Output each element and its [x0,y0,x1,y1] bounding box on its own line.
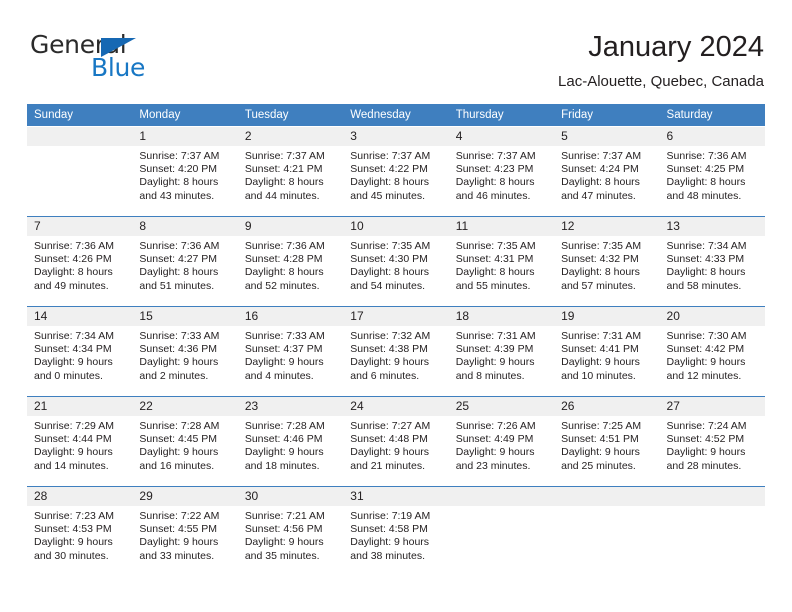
calendar-day-cell[interactable]: 14Sunrise: 7:34 AMSunset: 4:34 PMDayligh… [27,307,132,397]
sunrise-text: Sunrise: 7:23 AM [34,510,128,523]
day-details: Sunrise: 7:37 AMSunset: 4:20 PMDaylight:… [132,146,237,203]
calendar-day-cell[interactable]: 1Sunrise: 7:37 AMSunset: 4:20 PMDaylight… [132,127,237,217]
day-number: 14 [27,307,132,326]
day-box: 23Sunrise: 7:28 AMSunset: 4:46 PMDayligh… [238,397,343,486]
daylight-text: Daylight: 9 hours [34,356,128,369]
day-number: 10 [343,217,448,236]
daylight-text: and 38 minutes. [350,550,444,563]
day-box: 17Sunrise: 7:32 AMSunset: 4:38 PMDayligh… [343,307,448,396]
sunrise-text: Sunrise: 7:37 AM [245,150,339,163]
sunset-text: Sunset: 4:25 PM [667,163,761,176]
day-details: Sunrise: 7:19 AMSunset: 4:58 PMDaylight:… [343,506,448,563]
daylight-text: Daylight: 8 hours [350,176,444,189]
daylight-text: Daylight: 8 hours [561,176,655,189]
daylight-text: and 46 minutes. [456,190,550,203]
day-number: 7 [27,217,132,236]
day-details: Sunrise: 7:35 AMSunset: 4:30 PMDaylight:… [343,236,448,293]
calendar-day-cell[interactable]: 10Sunrise: 7:35 AMSunset: 4:30 PMDayligh… [343,217,448,307]
day-number: 28 [27,487,132,506]
day-details: Sunrise: 7:30 AMSunset: 4:42 PMDaylight:… [660,326,765,383]
day-number: 6 [660,127,765,146]
sunset-text: Sunset: 4:27 PM [139,253,233,266]
calendar-day-cell[interactable]: 28Sunrise: 7:23 AMSunset: 4:53 PMDayligh… [27,487,132,577]
calendar-day-cell[interactable]: 24Sunrise: 7:27 AMSunset: 4:48 PMDayligh… [343,397,448,487]
daylight-text: and 54 minutes. [350,280,444,293]
sunset-text: Sunset: 4:48 PM [350,433,444,446]
logo-word-blue: Blue [91,55,145,80]
day-number: 18 [449,307,554,326]
day-number [27,127,132,146]
daylight-text: Daylight: 8 hours [350,266,444,279]
sunrise-text: Sunrise: 7:32 AM [350,330,444,343]
sunset-text: Sunset: 4:46 PM [245,433,339,446]
sunset-text: Sunset: 4:28 PM [245,253,339,266]
sunrise-text: Sunrise: 7:36 AM [245,240,339,253]
sunset-text: Sunset: 4:39 PM [456,343,550,356]
sunset-text: Sunset: 4:22 PM [350,163,444,176]
daylight-text: Daylight: 8 hours [245,176,339,189]
daylight-text: and 51 minutes. [139,280,233,293]
daylight-text: and 43 minutes. [139,190,233,203]
day-number: 23 [238,397,343,416]
sunset-text: Sunset: 4:44 PM [34,433,128,446]
sunrise-text: Sunrise: 7:29 AM [34,420,128,433]
calendar-day-cell[interactable]: 6Sunrise: 7:36 AMSunset: 4:25 PMDaylight… [660,127,765,217]
day-box: 19Sunrise: 7:31 AMSunset: 4:41 PMDayligh… [554,307,659,396]
calendar-day-cell[interactable]: 3Sunrise: 7:37 AMSunset: 4:22 PMDaylight… [343,127,448,217]
daylight-text: and 14 minutes. [34,460,128,473]
sunrise-text: Sunrise: 7:36 AM [34,240,128,253]
calendar-cell-empty [449,487,554,577]
daylight-text: Daylight: 9 hours [350,536,444,549]
sunrise-text: Sunrise: 7:19 AM [350,510,444,523]
sunrise-text: Sunrise: 7:34 AM [667,240,761,253]
calendar-cell-empty [660,487,765,577]
daylight-text: and 2 minutes. [139,370,233,383]
sunrise-text: Sunrise: 7:28 AM [245,420,339,433]
daylight-text: and 23 minutes. [456,460,550,473]
calendar-day-cell[interactable]: 30Sunrise: 7:21 AMSunset: 4:56 PMDayligh… [238,487,343,577]
calendar-week-row: 1Sunrise: 7:37 AMSunset: 4:20 PMDaylight… [27,127,765,217]
calendar-day-cell[interactable]: 13Sunrise: 7:34 AMSunset: 4:33 PMDayligh… [660,217,765,307]
sunset-text: Sunset: 4:41 PM [561,343,655,356]
daylight-text: Daylight: 8 hours [667,266,761,279]
weekday-header-tuesday: Tuesday [238,104,343,127]
day-number: 31 [343,487,448,506]
daylight-text: and 28 minutes. [667,460,761,473]
day-box: 22Sunrise: 7:28 AMSunset: 4:45 PMDayligh… [132,397,237,486]
daylight-text: and 0 minutes. [34,370,128,383]
day-number: 19 [554,307,659,326]
sunrise-text: Sunrise: 7:31 AM [456,330,550,343]
day-box: 10Sunrise: 7:35 AMSunset: 4:30 PMDayligh… [343,217,448,306]
day-box: 12Sunrise: 7:35 AMSunset: 4:32 PMDayligh… [554,217,659,306]
daylight-text: and 48 minutes. [667,190,761,203]
daylight-text: and 16 minutes. [139,460,233,473]
daylight-text: and 57 minutes. [561,280,655,293]
day-details: Sunrise: 7:31 AMSunset: 4:41 PMDaylight:… [554,326,659,383]
calendar-day-cell[interactable]: 11Sunrise: 7:35 AMSunset: 4:31 PMDayligh… [449,217,554,307]
day-number: 16 [238,307,343,326]
calendar-day-cell[interactable]: 19Sunrise: 7:31 AMSunset: 4:41 PMDayligh… [554,307,659,397]
day-box: 9Sunrise: 7:36 AMSunset: 4:28 PMDaylight… [238,217,343,306]
day-number: 24 [343,397,448,416]
day-details: Sunrise: 7:27 AMSunset: 4:48 PMDaylight:… [343,416,448,473]
day-number: 29 [132,487,237,506]
calendar-day-cell[interactable]: 18Sunrise: 7:31 AMSunset: 4:39 PMDayligh… [449,307,554,397]
daylight-text: Daylight: 9 hours [34,446,128,459]
day-number: 12 [554,217,659,236]
daylight-text: and 30 minutes. [34,550,128,563]
calendar-day-cell[interactable]: 17Sunrise: 7:32 AMSunset: 4:38 PMDayligh… [343,307,448,397]
day-box: 15Sunrise: 7:33 AMSunset: 4:36 PMDayligh… [132,307,237,396]
sunset-text: Sunset: 4:23 PM [456,163,550,176]
day-box: 29Sunrise: 7:22 AMSunset: 4:55 PMDayligh… [132,487,237,577]
sunrise-text: Sunrise: 7:34 AM [34,330,128,343]
sunrise-text: Sunrise: 7:31 AM [561,330,655,343]
day-details: Sunrise: 7:25 AMSunset: 4:51 PMDaylight:… [554,416,659,473]
day-details [554,506,659,510]
day-box: 16Sunrise: 7:33 AMSunset: 4:37 PMDayligh… [238,307,343,396]
day-box: 2Sunrise: 7:37 AMSunset: 4:21 PMDaylight… [238,127,343,216]
weekday-header-sunday: Sunday [27,104,132,127]
calendar-day-cell[interactable]: 27Sunrise: 7:24 AMSunset: 4:52 PMDayligh… [660,397,765,487]
daylight-text: and 8 minutes. [456,370,550,383]
sunset-text: Sunset: 4:56 PM [245,523,339,536]
sunrise-text: Sunrise: 7:33 AM [245,330,339,343]
daylight-text: Daylight: 9 hours [456,446,550,459]
sunset-text: Sunset: 4:52 PM [667,433,761,446]
sunset-text: Sunset: 4:21 PM [245,163,339,176]
day-number: 8 [132,217,237,236]
day-number [449,487,554,506]
weekday-header-wednesday: Wednesday [343,104,448,127]
day-number: 1 [132,127,237,146]
day-number [660,487,765,506]
sunset-text: Sunset: 4:45 PM [139,433,233,446]
sunset-text: Sunset: 4:36 PM [139,343,233,356]
sunset-text: Sunset: 4:20 PM [139,163,233,176]
day-box: 28Sunrise: 7:23 AMSunset: 4:53 PMDayligh… [27,487,132,577]
daylight-text: and 18 minutes. [245,460,339,473]
daylight-text: and 49 minutes. [34,280,128,293]
daylight-text: Daylight: 9 hours [667,356,761,369]
day-box: 26Sunrise: 7:25 AMSunset: 4:51 PMDayligh… [554,397,659,486]
day-details: Sunrise: 7:36 AMSunset: 4:25 PMDaylight:… [660,146,765,203]
calendar-day-cell[interactable]: 21Sunrise: 7:29 AMSunset: 4:44 PMDayligh… [27,397,132,487]
day-number: 25 [449,397,554,416]
calendar-day-cell[interactable]: 25Sunrise: 7:26 AMSunset: 4:49 PMDayligh… [449,397,554,487]
weekday-header-friday: Friday [554,104,659,127]
sunrise-text: Sunrise: 7:26 AM [456,420,550,433]
day-number: 17 [343,307,448,326]
day-number: 30 [238,487,343,506]
calendar-day-cell[interactable]: 20Sunrise: 7:30 AMSunset: 4:42 PMDayligh… [660,307,765,397]
sunset-text: Sunset: 4:33 PM [667,253,761,266]
daylight-text: Daylight: 9 hours [245,536,339,549]
day-number: 21 [27,397,132,416]
calendar-day-cell[interactable]: 12Sunrise: 7:35 AMSunset: 4:32 PMDayligh… [554,217,659,307]
calendar-body: 1Sunrise: 7:37 AMSunset: 4:20 PMDaylight… [27,127,765,577]
day-box [27,127,132,216]
daylight-text: and 58 minutes. [667,280,761,293]
daylight-text: Daylight: 9 hours [667,446,761,459]
day-details: Sunrise: 7:34 AMSunset: 4:34 PMDaylight:… [27,326,132,383]
daylight-text: Daylight: 9 hours [245,356,339,369]
weekday-header-monday: Monday [132,104,237,127]
day-number: 22 [132,397,237,416]
day-number: 26 [554,397,659,416]
day-box [554,487,659,577]
day-box: 21Sunrise: 7:29 AMSunset: 4:44 PMDayligh… [27,397,132,486]
daylight-text: Daylight: 9 hours [139,446,233,459]
daylight-text: Daylight: 8 hours [34,266,128,279]
sunset-text: Sunset: 4:34 PM [34,343,128,356]
daylight-text: and 25 minutes. [561,460,655,473]
daylight-text: and 10 minutes. [561,370,655,383]
daylight-text: Daylight: 8 hours [667,176,761,189]
daylight-text: Daylight: 9 hours [561,356,655,369]
calendar-day-cell[interactable]: 8Sunrise: 7:36 AMSunset: 4:27 PMDaylight… [132,217,237,307]
calendar-week-row: 14Sunrise: 7:34 AMSunset: 4:34 PMDayligh… [27,307,765,397]
day-box: 3Sunrise: 7:37 AMSunset: 4:22 PMDaylight… [343,127,448,216]
daylight-text: Daylight: 9 hours [350,446,444,459]
daylight-text: Daylight: 9 hours [350,356,444,369]
day-number: 11 [449,217,554,236]
sunrise-text: Sunrise: 7:36 AM [667,150,761,163]
sunset-text: Sunset: 4:55 PM [139,523,233,536]
day-details: Sunrise: 7:35 AMSunset: 4:31 PMDaylight:… [449,236,554,293]
sunrise-text: Sunrise: 7:30 AM [667,330,761,343]
day-box: 8Sunrise: 7:36 AMSunset: 4:27 PMDaylight… [132,217,237,306]
daylight-text: and 47 minutes. [561,190,655,203]
calendar-day-cell[interactable]: 16Sunrise: 7:33 AMSunset: 4:37 PMDayligh… [238,307,343,397]
day-details: Sunrise: 7:28 AMSunset: 4:46 PMDaylight:… [238,416,343,473]
day-details: Sunrise: 7:34 AMSunset: 4:33 PMDaylight:… [660,236,765,293]
day-details: Sunrise: 7:24 AMSunset: 4:52 PMDaylight:… [660,416,765,473]
sunset-text: Sunset: 4:37 PM [245,343,339,356]
sunrise-text: Sunrise: 7:27 AM [350,420,444,433]
daylight-text: Daylight: 9 hours [34,536,128,549]
day-details: Sunrise: 7:36 AMSunset: 4:26 PMDaylight:… [27,236,132,293]
calendar-grid: SundayMondayTuesdayWednesdayThursdayFrid… [27,104,765,577]
daylight-text: Daylight: 8 hours [456,176,550,189]
sunrise-text: Sunrise: 7:37 AM [350,150,444,163]
sunset-text: Sunset: 4:26 PM [34,253,128,266]
weekday-header-saturday: Saturday [660,104,765,127]
daylight-text: and 45 minutes. [350,190,444,203]
weekday-header-thursday: Thursday [449,104,554,127]
daylight-text: and 55 minutes. [456,280,550,293]
day-details: Sunrise: 7:37 AMSunset: 4:22 PMDaylight:… [343,146,448,203]
sunrise-text: Sunrise: 7:35 AM [456,240,550,253]
sunset-text: Sunset: 4:30 PM [350,253,444,266]
day-number [554,487,659,506]
day-details: Sunrise: 7:36 AMSunset: 4:27 PMDaylight:… [132,236,237,293]
day-details: Sunrise: 7:32 AMSunset: 4:38 PMDaylight:… [343,326,448,383]
daylight-text: and 4 minutes. [245,370,339,383]
calendar-day-cell[interactable]: 22Sunrise: 7:28 AMSunset: 4:45 PMDayligh… [132,397,237,487]
sunset-text: Sunset: 4:32 PM [561,253,655,266]
calendar-day-cell[interactable]: 9Sunrise: 7:36 AMSunset: 4:28 PMDaylight… [238,217,343,307]
general-blue-logo[interactable]: General Blue [30,30,160,86]
day-details: Sunrise: 7:35 AMSunset: 4:32 PMDaylight:… [554,236,659,293]
daylight-text: and 21 minutes. [350,460,444,473]
calendar-day-cell[interactable]: 26Sunrise: 7:25 AMSunset: 4:51 PMDayligh… [554,397,659,487]
day-details [660,506,765,510]
day-details: Sunrise: 7:37 AMSunset: 4:21 PMDaylight:… [238,146,343,203]
day-number: 5 [554,127,659,146]
day-box: 5Sunrise: 7:37 AMSunset: 4:24 PMDaylight… [554,127,659,216]
calendar-day-cell[interactable]: 29Sunrise: 7:22 AMSunset: 4:55 PMDayligh… [132,487,237,577]
sunrise-text: Sunrise: 7:21 AM [245,510,339,523]
sunrise-text: Sunrise: 7:24 AM [667,420,761,433]
calendar-week-row: 7Sunrise: 7:36 AMSunset: 4:26 PMDaylight… [27,217,765,307]
daylight-text: Daylight: 8 hours [456,266,550,279]
day-number: 2 [238,127,343,146]
day-details: Sunrise: 7:37 AMSunset: 4:24 PMDaylight:… [554,146,659,203]
daylight-text: Daylight: 8 hours [245,266,339,279]
day-details: Sunrise: 7:33 AMSunset: 4:36 PMDaylight:… [132,326,237,383]
daylight-text: Daylight: 9 hours [139,536,233,549]
day-details: Sunrise: 7:23 AMSunset: 4:53 PMDaylight:… [27,506,132,563]
day-details: Sunrise: 7:29 AMSunset: 4:44 PMDaylight:… [27,416,132,473]
day-details: Sunrise: 7:26 AMSunset: 4:49 PMDaylight:… [449,416,554,473]
title-block: January 2024 Lac-Alouette, Quebec, Canad… [558,30,764,90]
daylight-text: and 12 minutes. [667,370,761,383]
sunset-text: Sunset: 4:24 PM [561,163,655,176]
day-box: 18Sunrise: 7:31 AMSunset: 4:39 PMDayligh… [449,307,554,396]
day-details: Sunrise: 7:22 AMSunset: 4:55 PMDaylight:… [132,506,237,563]
calendar-day-cell[interactable]: 4Sunrise: 7:37 AMSunset: 4:23 PMDaylight… [449,127,554,217]
day-box: 30Sunrise: 7:21 AMSunset: 4:56 PMDayligh… [238,487,343,577]
calendar-day-cell[interactable]: 23Sunrise: 7:28 AMSunset: 4:46 PMDayligh… [238,397,343,487]
calendar-page: General Blue January 2024 Lac-Alouette, … [0,0,792,612]
sunset-text: Sunset: 4:58 PM [350,523,444,536]
daylight-text: and 52 minutes. [245,280,339,293]
calendar-cell-empty [554,487,659,577]
sunrise-text: Sunrise: 7:33 AM [139,330,233,343]
page-title: January 2024 [558,31,764,64]
day-box: 7Sunrise: 7:36 AMSunset: 4:26 PMDaylight… [27,217,132,306]
day-box [660,487,765,577]
day-box: 11Sunrise: 7:35 AMSunset: 4:31 PMDayligh… [449,217,554,306]
calendar-day-cell[interactable]: 15Sunrise: 7:33 AMSunset: 4:36 PMDayligh… [132,307,237,397]
sunset-text: Sunset: 4:38 PM [350,343,444,356]
daylight-text: Daylight: 8 hours [139,176,233,189]
day-details [449,506,554,510]
day-details: Sunrise: 7:31 AMSunset: 4:39 PMDaylight:… [449,326,554,383]
page-header: General Blue January 2024 Lac-Alouette, … [0,0,792,104]
sunset-text: Sunset: 4:53 PM [34,523,128,536]
sunrise-text: Sunrise: 7:37 AM [561,150,655,163]
sunrise-text: Sunrise: 7:36 AM [139,240,233,253]
day-details: Sunrise: 7:37 AMSunset: 4:23 PMDaylight:… [449,146,554,203]
daylight-text: and 6 minutes. [350,370,444,383]
sunset-text: Sunset: 4:51 PM [561,433,655,446]
daylight-text: Daylight: 9 hours [561,446,655,459]
daylight-text: Daylight: 9 hours [139,356,233,369]
day-number: 13 [660,217,765,236]
day-box: 20Sunrise: 7:30 AMSunset: 4:42 PMDayligh… [660,307,765,396]
sunrise-text: Sunrise: 7:35 AM [561,240,655,253]
day-box: 1Sunrise: 7:37 AMSunset: 4:20 PMDaylight… [132,127,237,216]
day-details: Sunrise: 7:36 AMSunset: 4:28 PMDaylight:… [238,236,343,293]
day-number: 3 [343,127,448,146]
day-details [27,146,132,150]
sunrise-text: Sunrise: 7:37 AM [456,150,550,163]
sunset-text: Sunset: 4:49 PM [456,433,550,446]
calendar-day-cell[interactable]: 31Sunrise: 7:19 AMSunset: 4:58 PMDayligh… [343,487,448,577]
daylight-text: and 44 minutes. [245,190,339,203]
calendar-cell-empty [27,127,132,217]
daylight-text: and 35 minutes. [245,550,339,563]
day-box: 14Sunrise: 7:34 AMSunset: 4:34 PMDayligh… [27,307,132,396]
weekday-header-row: SundayMondayTuesdayWednesdayThursdayFrid… [27,104,765,127]
page-subtitle: Lac-Alouette, Quebec, Canada [558,73,764,90]
sunrise-text: Sunrise: 7:37 AM [139,150,233,163]
day-number: 27 [660,397,765,416]
sunset-text: Sunset: 4:42 PM [667,343,761,356]
day-box: 6Sunrise: 7:36 AMSunset: 4:25 PMDaylight… [660,127,765,216]
sunrise-text: Sunrise: 7:22 AM [139,510,233,523]
day-number: 9 [238,217,343,236]
day-box: 13Sunrise: 7:34 AMSunset: 4:33 PMDayligh… [660,217,765,306]
sunrise-text: Sunrise: 7:25 AM [561,420,655,433]
day-box [449,487,554,577]
day-details: Sunrise: 7:33 AMSunset: 4:37 PMDaylight:… [238,326,343,383]
daylight-text: Daylight: 9 hours [245,446,339,459]
day-box: 27Sunrise: 7:24 AMSunset: 4:52 PMDayligh… [660,397,765,486]
calendar-week-row: 21Sunrise: 7:29 AMSunset: 4:44 PMDayligh… [27,397,765,487]
daylight-text: and 33 minutes. [139,550,233,563]
sunrise-text: Sunrise: 7:28 AM [139,420,233,433]
day-number: 15 [132,307,237,326]
daylight-text: Daylight: 8 hours [561,266,655,279]
day-box: 4Sunrise: 7:37 AMSunset: 4:23 PMDaylight… [449,127,554,216]
day-box: 25Sunrise: 7:26 AMSunset: 4:49 PMDayligh… [449,397,554,486]
calendar-day-cell[interactable]: 7Sunrise: 7:36 AMSunset: 4:26 PMDaylight… [27,217,132,307]
day-number: 20 [660,307,765,326]
sunrise-text: Sunrise: 7:35 AM [350,240,444,253]
day-details: Sunrise: 7:21 AMSunset: 4:56 PMDaylight:… [238,506,343,563]
calendar-day-cell[interactable]: 2Sunrise: 7:37 AMSunset: 4:21 PMDaylight… [238,127,343,217]
day-box: 31Sunrise: 7:19 AMSunset: 4:58 PMDayligh… [343,487,448,577]
day-details: Sunrise: 7:28 AMSunset: 4:45 PMDaylight:… [132,416,237,473]
calendar-day-cell[interactable]: 5Sunrise: 7:37 AMSunset: 4:24 PMDaylight… [554,127,659,217]
day-box: 24Sunrise: 7:27 AMSunset: 4:48 PMDayligh… [343,397,448,486]
day-number: 4 [449,127,554,146]
daylight-text: Daylight: 9 hours [456,356,550,369]
sunset-text: Sunset: 4:31 PM [456,253,550,266]
calendar-week-row: 28Sunrise: 7:23 AMSunset: 4:53 PMDayligh… [27,487,765,577]
daylight-text: Daylight: 8 hours [139,266,233,279]
